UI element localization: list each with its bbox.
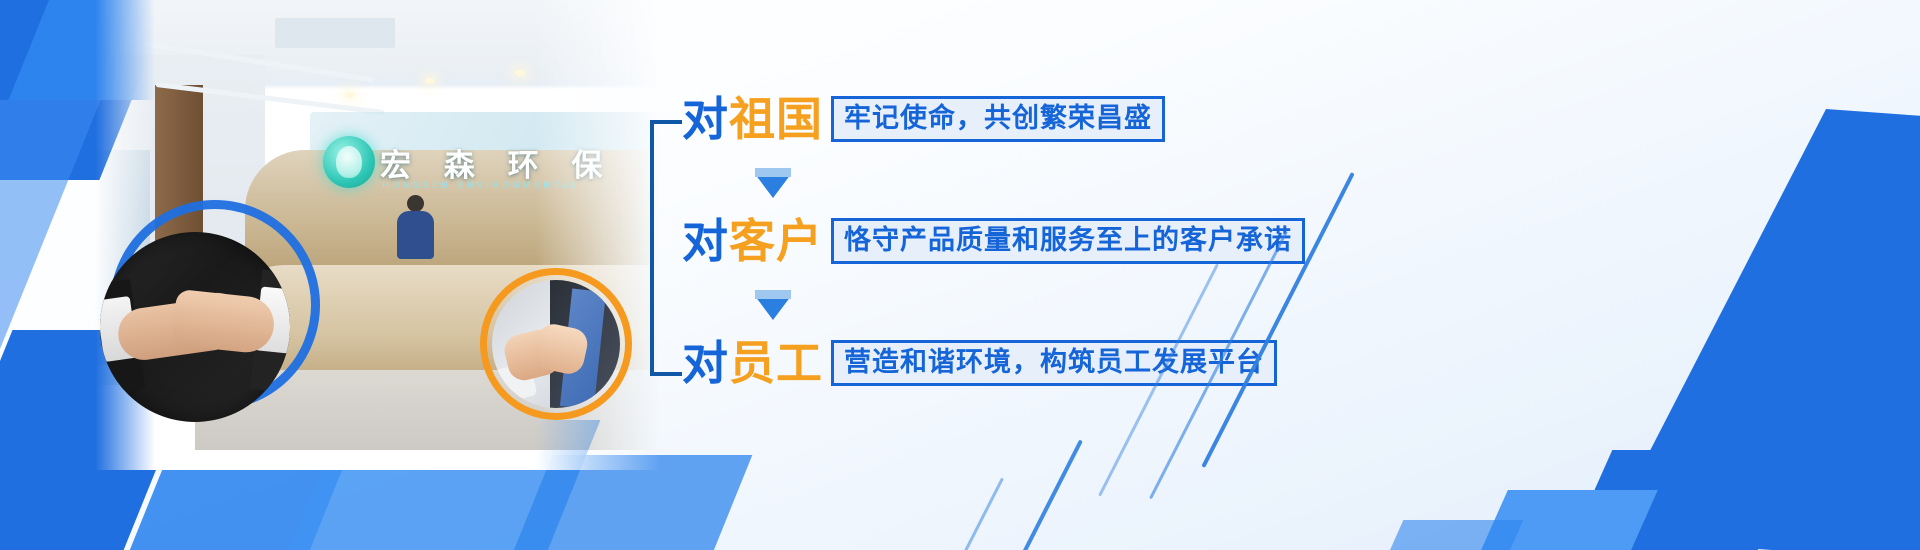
company-sign-subtext: HONGSEN ENVIRONMENTAL	[382, 181, 579, 191]
value-row-nation: 对祖国 牢记使命，共创繁荣昌盛	[682, 96, 1165, 142]
value-prefix: 对	[682, 92, 729, 146]
value-lead-customer: 对客户	[682, 218, 823, 264]
value-target: 客户	[729, 214, 823, 268]
value-row-customer: 对客户 恪守产品质量和服务至上的客户承诺	[682, 218, 1305, 264]
ceiling-spotlight-3	[515, 70, 525, 76]
receptionist-body	[397, 211, 434, 259]
decor-shape-right-4	[1337, 520, 1524, 550]
values-list: 对祖国 牢记使命，共创繁荣昌盛 对客户 恪守产品质量和服务至上的客户承诺 对员工…	[650, 78, 1350, 398]
applause-photo	[492, 280, 620, 408]
ceiling-vent	[275, 18, 395, 48]
company-sign-text: 宏 森 环 保	[380, 140, 613, 185]
value-prefix: 对	[682, 214, 729, 268]
ceiling-spotlight-1	[345, 92, 355, 98]
value-prefix: 对	[682, 336, 729, 390]
value-lead-nation: 对祖国	[682, 96, 823, 142]
value-statement-nation: 牢记使命，共创繁荣昌盛	[831, 96, 1165, 142]
ceiling-spotlight-2	[425, 78, 435, 84]
value-lead-employee: 对员工	[682, 340, 823, 386]
triangle-down-icon-1	[755, 174, 791, 198]
values-bracket	[650, 120, 682, 376]
handshake-photo	[100, 232, 290, 422]
company-values-banner: 宏 森 环 保 HONGSEN ENVIRONMENTAL 对祖	[0, 0, 1920, 550]
receptionist-head	[407, 195, 424, 212]
value-statement-customer: 恪守产品质量和服务至上的客户承诺	[831, 218, 1305, 264]
value-target: 祖国	[729, 92, 823, 146]
value-target: 员工	[729, 336, 823, 390]
decor-diagonal-4	[993, 439, 1083, 550]
globe-logo-icon	[323, 136, 375, 188]
value-row-employee: 对员工 营造和谐环境，构筑员工发展平台	[682, 340, 1277, 386]
receptionist-figure	[395, 195, 435, 257]
triangle-down-icon-2	[755, 296, 791, 320]
decor-diagonal-5	[933, 477, 1004, 550]
